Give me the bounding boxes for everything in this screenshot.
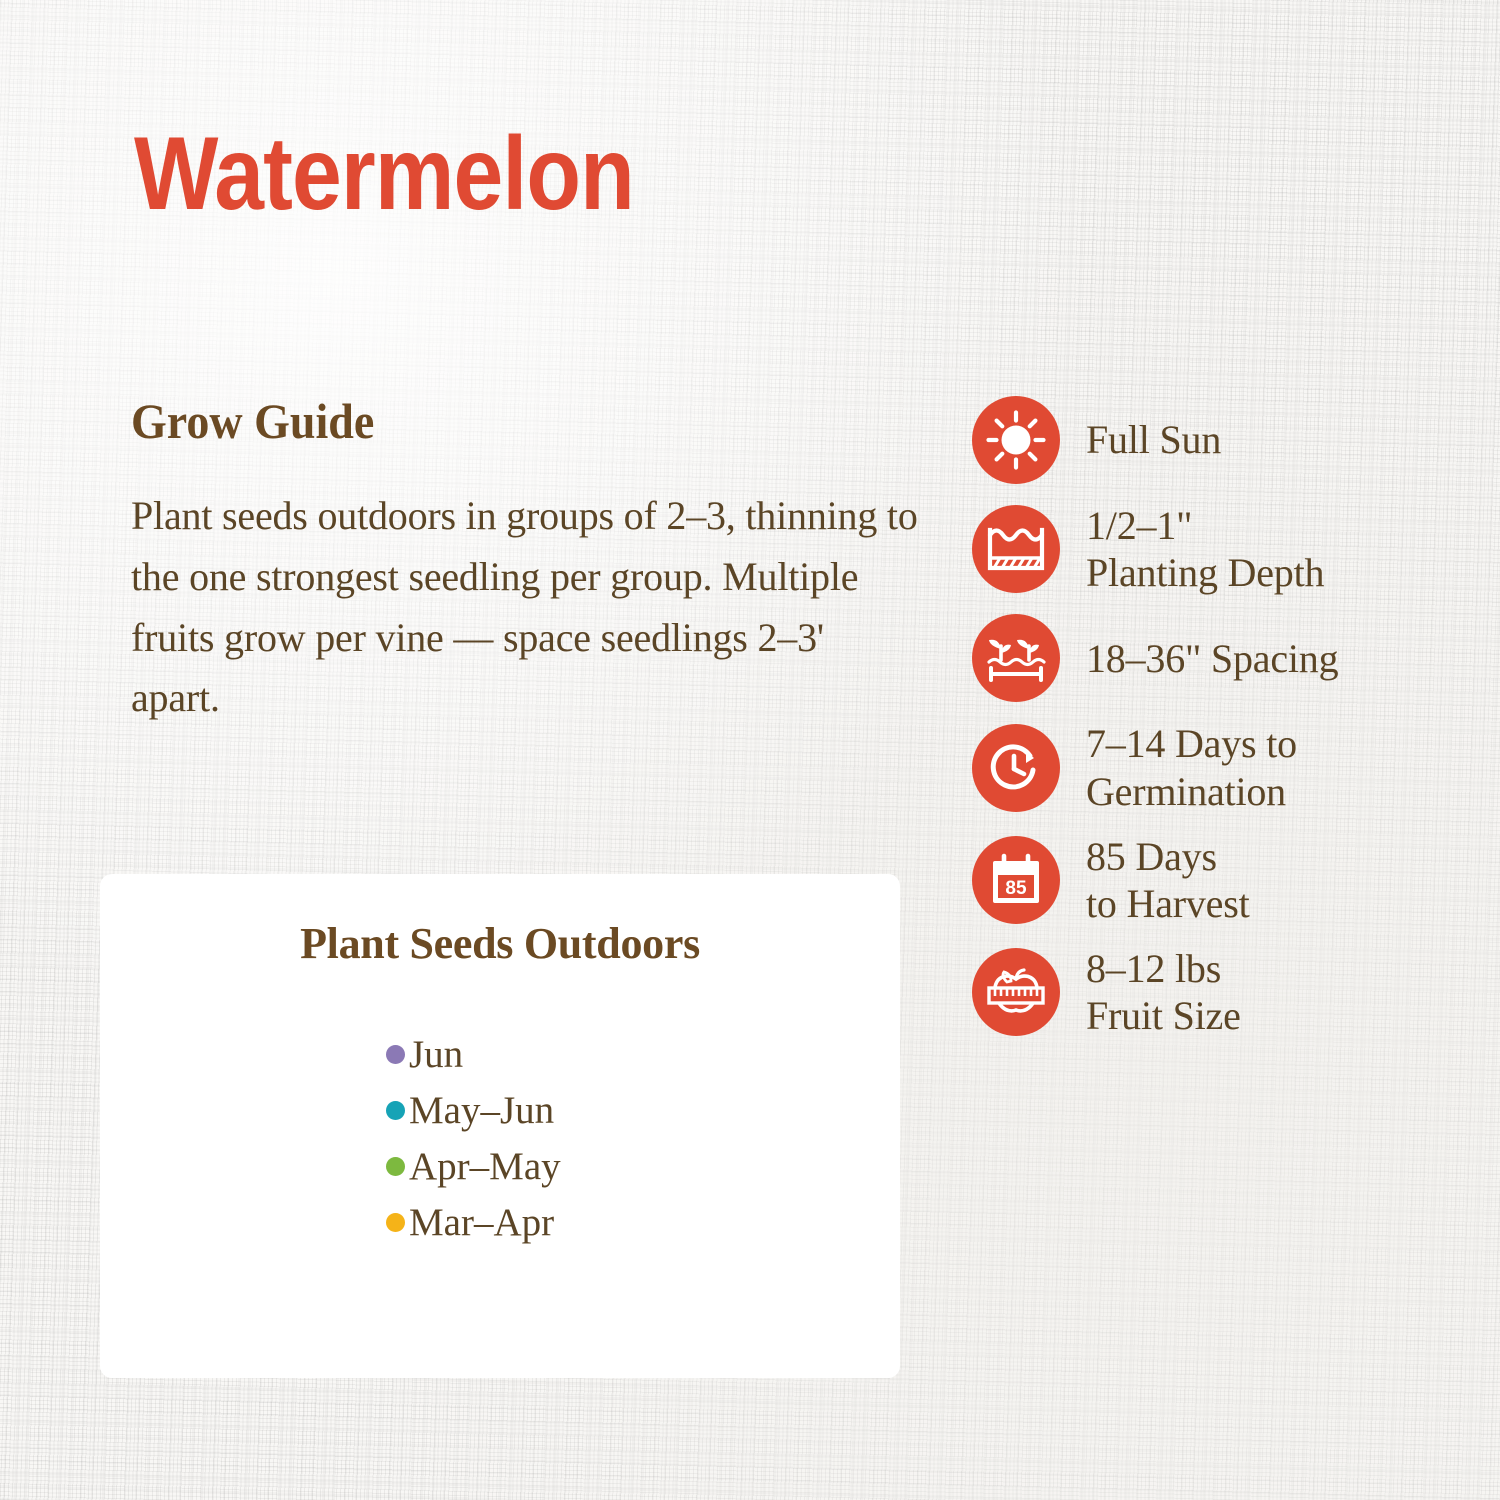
grow-guide-page: Watermelon Grow Guide Plant seeds outdoo… <box>0 0 1500 1500</box>
page-title: Watermelon <box>134 122 634 226</box>
legend-item: Jun <box>100 1026 900 1082</box>
fact-line: to Harvest <box>1086 880 1250 927</box>
fact-row-full-sun: Full Sun <box>972 396 1472 484</box>
grow-guide-body-text: Plant seeds outdoors in groups of 2–3, t… <box>131 486 921 729</box>
fact-label-germination: 7–14 Days to Germination <box>1086 720 1297 814</box>
fact-label-fruit-size: 8–12 lbs Fruit Size <box>1086 945 1241 1039</box>
fact-row-germination: 7–14 Days to Germination <box>972 720 1472 814</box>
planting-window-legend: Jun May–Jun Apr–May Mar–Apr <box>100 1026 900 1250</box>
fact-line: 8–12 lbs <box>1086 945 1241 992</box>
grow-facts-list: Full Sun <box>972 396 1472 1058</box>
planting-depth-icon <box>972 505 1060 593</box>
spacing-icon <box>972 614 1060 702</box>
legend-item: May–Jun <box>100 1082 900 1138</box>
fact-line: 7–14 Days to <box>1086 720 1297 767</box>
legend-item-label: May–Jun <box>409 1091 554 1130</box>
calendar-icon: 85 <box>972 836 1060 924</box>
fact-line: Full Sun <box>1086 416 1221 463</box>
fact-row-spacing: 18–36" Spacing <box>972 614 1472 702</box>
legend-item-label: Mar–Apr <box>409 1203 554 1242</box>
fact-row-harvest: 85 85 Days to Harvest <box>972 833 1472 927</box>
grow-guide-heading: Grow Guide <box>131 396 374 446</box>
legend-color-swatch <box>386 1101 405 1120</box>
fact-line: 1/2–1" <box>1086 502 1324 549</box>
plant-seeds-outdoors-card: Plant Seeds Outdoors Jun May–Jun Apr–May… <box>100 874 900 1378</box>
fact-line: 18–36" Spacing <box>1086 635 1338 682</box>
card-title: Plant Seeds Outdoors <box>100 922 900 966</box>
fact-line: Germination <box>1086 768 1297 815</box>
legend-color-swatch <box>386 1157 405 1176</box>
fact-label-planting-depth: 1/2–1" Planting Depth <box>1086 502 1324 596</box>
calendar-day-count: 85 <box>1005 878 1027 899</box>
sun-icon <box>972 396 1060 484</box>
clock-icon <box>972 724 1060 812</box>
legend-item-label: Jun <box>409 1035 463 1074</box>
legend-color-swatch <box>386 1045 405 1064</box>
fact-label-full-sun: Full Sun <box>1086 416 1221 463</box>
legend-item: Mar–Apr <box>100 1194 900 1250</box>
legend-item: Apr–May <box>100 1138 900 1194</box>
fact-line: 85 Days <box>1086 833 1250 880</box>
legend-color-swatch <box>386 1213 405 1232</box>
fact-row-planting-depth: 1/2–1" Planting Depth <box>972 502 1472 596</box>
fact-label-harvest: 85 Days to Harvest <box>1086 833 1250 927</box>
fact-label-spacing: 18–36" Spacing <box>1086 635 1338 682</box>
fact-line: Fruit Size <box>1086 992 1241 1039</box>
legend-item-label: Apr–May <box>409 1147 561 1186</box>
fact-row-fruit-size: 8–12 lbs Fruit Size <box>972 945 1472 1039</box>
fruit-size-icon <box>972 948 1060 1036</box>
fact-line: Planting Depth <box>1086 549 1324 596</box>
